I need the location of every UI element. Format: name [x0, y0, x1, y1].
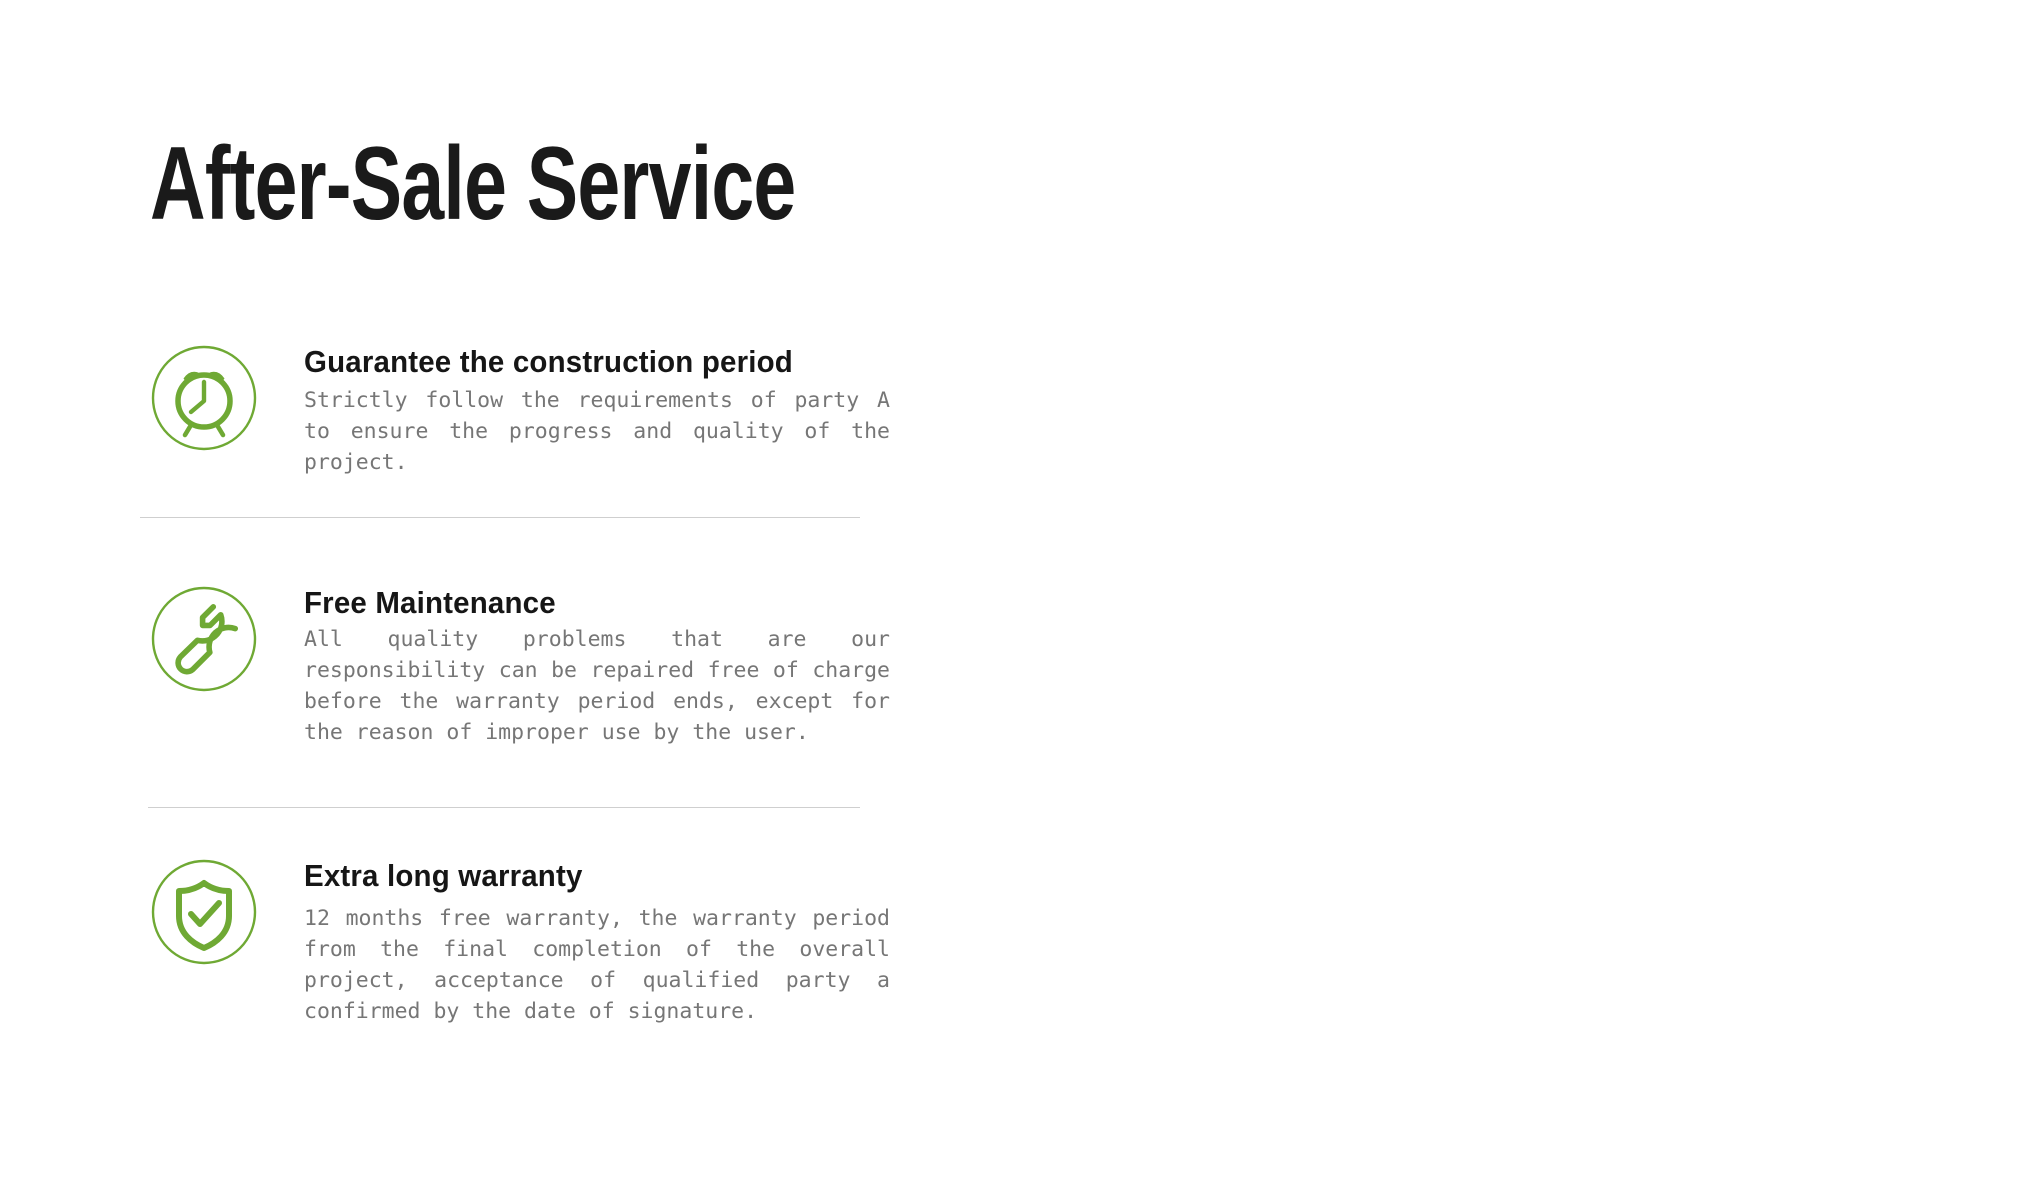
feature-body: Free Maintenance All quality problems th…: [258, 585, 890, 748]
feature-extra-long-warranty[interactable]: Extra long warranty 12 months free warra…: [150, 858, 890, 1027]
divider: [140, 517, 860, 518]
wrench-icon: [150, 585, 258, 693]
divider: [148, 807, 860, 808]
feature-title: Guarantee the construction period: [304, 344, 861, 381]
feature-title: Extra long warranty: [304, 858, 861, 895]
feature-body: Guarantee the construction period Strict…: [258, 344, 890, 478]
shield-check-icon: [150, 858, 258, 966]
page-title: After-Sale Service: [150, 132, 795, 236]
feature-body: Extra long warranty 12 months free warra…: [258, 858, 890, 1027]
feature-description: All quality problems that are our respon…: [304, 624, 890, 748]
feature-free-maintenance[interactable]: Free Maintenance All quality problems th…: [150, 585, 890, 748]
slide-canvas: After-Sale Service Guarantee the constru…: [0, 0, 2028, 1181]
feature-title: Free Maintenance: [304, 585, 861, 622]
alarm-clock-icon: [150, 344, 258, 452]
feature-description: Strictly follow the requirements of part…: [304, 385, 890, 478]
feature-guarantee-construction-period[interactable]: Guarantee the construction period Strict…: [150, 344, 890, 478]
feature-description: 12 months free warranty, the warranty pe…: [304, 903, 890, 1027]
